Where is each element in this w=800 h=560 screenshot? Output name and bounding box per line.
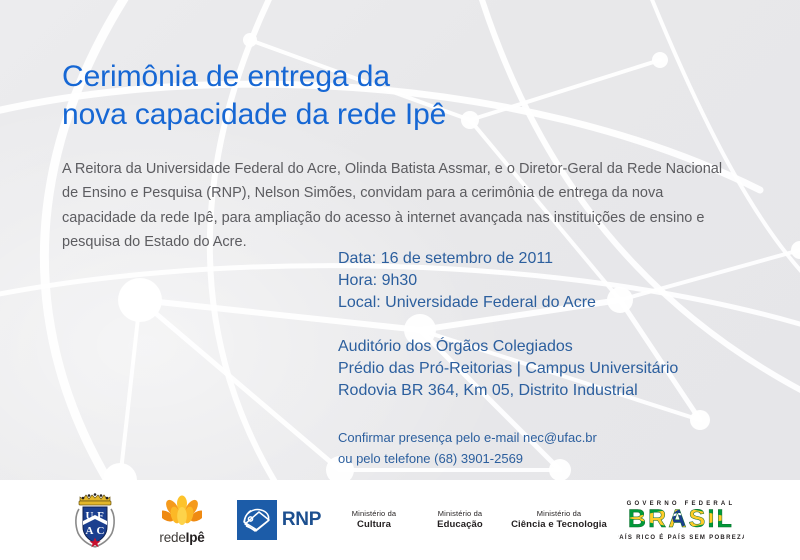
intro-paragraph: A Reitora da Universidade Federal do Acr… bbox=[62, 157, 734, 255]
rnp-wordmark: RNP bbox=[282, 509, 321, 531]
redeipe-word-light: rede bbox=[159, 530, 185, 545]
card-content: Cerimônia de entrega da nova capacidade … bbox=[0, 0, 800, 480]
redeipe-word-bold: Ipê bbox=[186, 530, 205, 545]
svg-text:A: A bbox=[86, 525, 94, 537]
ministerio-ciencia-bottom: Ciência e Tecnologia bbox=[511, 519, 607, 531]
ipe-flower-icon bbox=[162, 495, 202, 525]
ministerio-ciencia-top: Ministério da bbox=[511, 509, 607, 518]
redeipe-wordmark: redeIpê bbox=[159, 530, 204, 545]
card-main-panel: Cerimônia de entrega da nova capacidade … bbox=[0, 0, 800, 480]
event-where-block: Auditório dos Órgãos Colegiados Prédio d… bbox=[338, 336, 758, 402]
logo-ministerio-ciencia-tecnologia: Ministério da Ciência e Tecnologia bbox=[503, 509, 615, 530]
ministerio-cultura-top: Ministério da bbox=[352, 509, 396, 518]
svg-text:F: F bbox=[97, 510, 104, 522]
event-details: Data: 16 de setembro de 2011 Hora: 9h30 … bbox=[338, 248, 758, 469]
ministerio-educacao-bottom: Educação bbox=[437, 519, 483, 531]
invitation-card: Cerimônia de entrega da nova capacidade … bbox=[0, 0, 800, 560]
logo-strip: U F A C bbox=[0, 480, 800, 560]
brasil-brandmark-icon: BRASIL GOVERNO FEDERAL BRASIL PAÍS R bbox=[618, 496, 744, 544]
svg-text:PAÍS RICO É PAÍS SEM POBREZA: PAÍS RICO É PAÍS SEM POBREZA bbox=[618, 533, 744, 541]
logo-ministerio-cultura: Ministério da Cultura bbox=[331, 509, 417, 530]
logo-ministerio-educacao: Ministério da Educação bbox=[417, 509, 503, 530]
svg-text:C: C bbox=[97, 525, 105, 537]
rnp-mark-icon bbox=[237, 500, 277, 540]
logo-ufac: U F A C bbox=[53, 489, 137, 551]
event-when-block: Data: 16 de setembro de 2011 Hora: 9h30 … bbox=[338, 248, 758, 314]
ministerio-cultura-bottom: Cultura bbox=[352, 519, 396, 531]
svg-text:BRASIL: BRASIL bbox=[628, 505, 734, 533]
logo-governo-federal-brasil: BRASIL GOVERNO FEDERAL BRASIL PAÍS R bbox=[615, 496, 747, 544]
svg-text:U: U bbox=[86, 510, 94, 522]
footer: U F A C bbox=[0, 480, 800, 560]
logo-rnp: RNP bbox=[227, 500, 331, 540]
rsvp-block: Confirmar presença pelo e-mail nec@ufac.… bbox=[338, 427, 758, 469]
logo-redeipe: redeIpê bbox=[137, 495, 227, 545]
ministerio-educacao-top: Ministério da bbox=[437, 509, 483, 518]
ufac-crest-icon: U F A C bbox=[69, 489, 121, 551]
page-title: Cerimônia de entrega da nova capacidade … bbox=[62, 58, 682, 134]
